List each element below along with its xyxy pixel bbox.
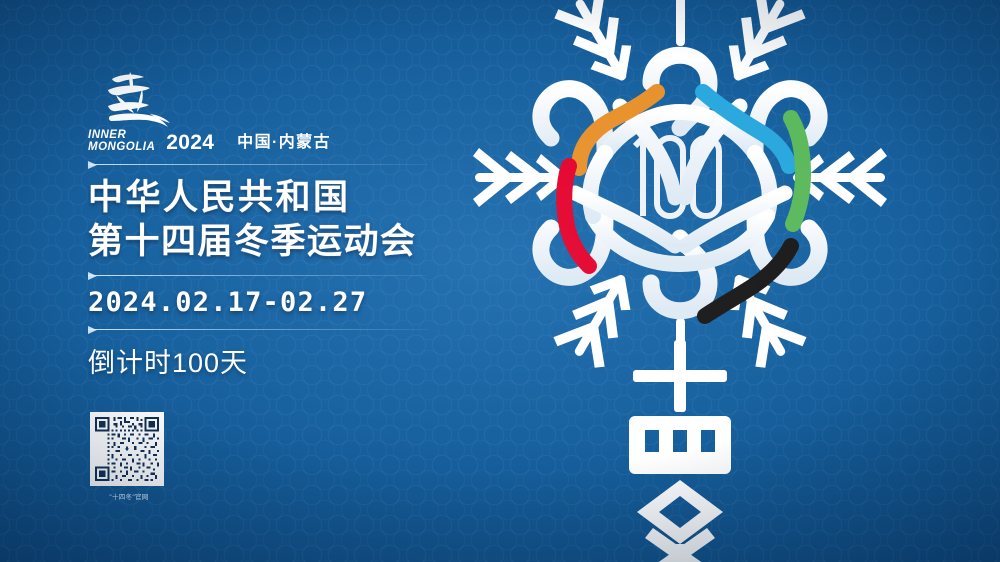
event-dates: 2024.02.17-02.27 <box>88 287 508 318</box>
emblem-vertical-characters <box>629 340 731 562</box>
countdown-label: 倒计时100天 <box>88 341 508 380</box>
fourteenth-winter-games-emblem <box>455 0 905 562</box>
wordmark-line-mongolia: MONGOLIA <box>88 142 155 154</box>
inner-mongolia-lockup: INNER MONGOLIA 2024 中国·内蒙古 <box>88 130 508 153</box>
divider-middle <box>88 275 428 276</box>
page-title-line-2: 第十四届冬季运动会 <box>88 220 508 264</box>
year-label: 2024 <box>166 133 214 153</box>
qr-caption: "十四冬"官网 <box>90 491 168 501</box>
divider-top <box>88 164 428 165</box>
inner-mongolia-wordmark: INNER MONGOLIA <box>88 130 155 153</box>
divider-bottom <box>88 329 428 330</box>
poster-canvas: INNER MONGOLIA 2024 中国·内蒙古 中华人民共和国 第十四届冬… <box>0 0 1000 562</box>
wordmark-line-inner: INNER <box>88 130 155 142</box>
qr-code-block[interactable]: "十四冬"官网 <box>90 412 168 501</box>
page-title-line-1: 中华人民共和国 <box>88 176 508 220</box>
left-text-column: INNER MONGOLIA 2024 中国·内蒙古 中华人民共和国 第十四届冬… <box>88 70 508 380</box>
calligraphy-brush-mark-icon <box>94 70 172 130</box>
qr-code-image[interactable] <box>90 412 164 486</box>
location-label: 中国·内蒙古 <box>237 133 331 153</box>
